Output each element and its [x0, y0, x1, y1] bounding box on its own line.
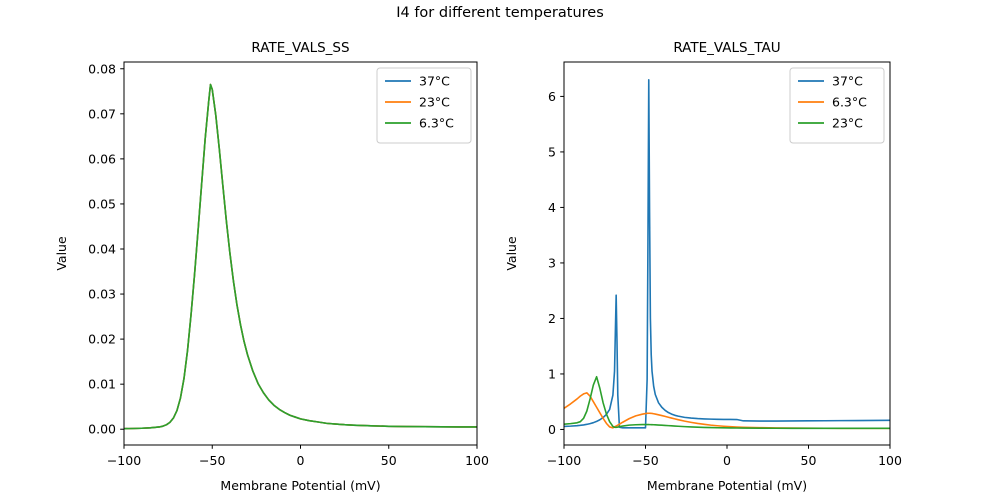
y-tick-label: 4 [548, 200, 556, 215]
x-axis-label: Membrane Potential (mV) [647, 478, 807, 493]
figure-suptitle: I4 for different temperatures [0, 5, 1000, 21]
y-tick-label: 0.05 [88, 196, 116, 211]
legend-label: 37°C [419, 74, 450, 89]
y-tick-label: 0.08 [88, 61, 116, 76]
x-tick-label: 100 [465, 453, 489, 468]
legend: 37°C6.3°C23°C [790, 68, 884, 143]
x-tick-label: −50 [199, 453, 225, 468]
x-tick-label: 50 [381, 453, 397, 468]
axes-rate-vals-tau: RATE_VALS_TAU−100−500501000123456Membran… [504, 40, 902, 493]
axes-title: RATE_VALS_SS [251, 40, 349, 56]
x-tick-label: −100 [107, 453, 141, 468]
axes-title: RATE_VALS_TAU [673, 40, 780, 56]
y-tick-label: 3 [548, 255, 556, 270]
legend-label: 6.3°C [832, 95, 867, 110]
x-tick-label: 0 [723, 453, 731, 468]
y-tick-label: 6 [548, 89, 556, 104]
legend-label: 37°C [832, 74, 863, 89]
legend-label: 6.3°C [419, 116, 454, 131]
y-axis-label: Value [504, 236, 519, 271]
x-tick-label: −100 [547, 453, 581, 468]
axes-rate-vals-ss: RATE_VALS_SS−100−500501000.000.010.020.0… [54, 40, 489, 493]
y-axis-label: Value [54, 236, 69, 271]
x-tick-label: 0 [297, 453, 305, 468]
matplotlib-figure: I4 for different temperatures RATE_VALS_… [0, 0, 1000, 500]
y-tick-label: 0.02 [88, 332, 116, 347]
y-tick-label: 0.06 [88, 151, 116, 166]
y-tick-label: 0 [548, 422, 556, 437]
y-tick-label: 0.04 [88, 241, 116, 256]
y-tick-label: 0.00 [88, 422, 116, 437]
figure-canvas: RATE_VALS_SS−100−500501000.000.010.020.0… [0, 0, 1000, 500]
x-tick-label: 100 [878, 453, 902, 468]
x-tick-label: −50 [632, 453, 658, 468]
y-tick-label: 2 [548, 311, 556, 326]
y-tick-label: 0.01 [88, 377, 116, 392]
y-tick-label: 1 [548, 366, 556, 381]
legend-label: 23°C [832, 116, 863, 131]
y-tick-label: 0.03 [88, 287, 116, 302]
y-tick-label: 0.07 [88, 106, 116, 121]
y-tick-label: 5 [548, 144, 556, 159]
x-axis-label: Membrane Potential (mV) [220, 478, 380, 493]
x-tick-label: 50 [801, 453, 817, 468]
legend: 37°C23°C6.3°C [377, 68, 471, 143]
legend-label: 23°C [419, 95, 450, 110]
